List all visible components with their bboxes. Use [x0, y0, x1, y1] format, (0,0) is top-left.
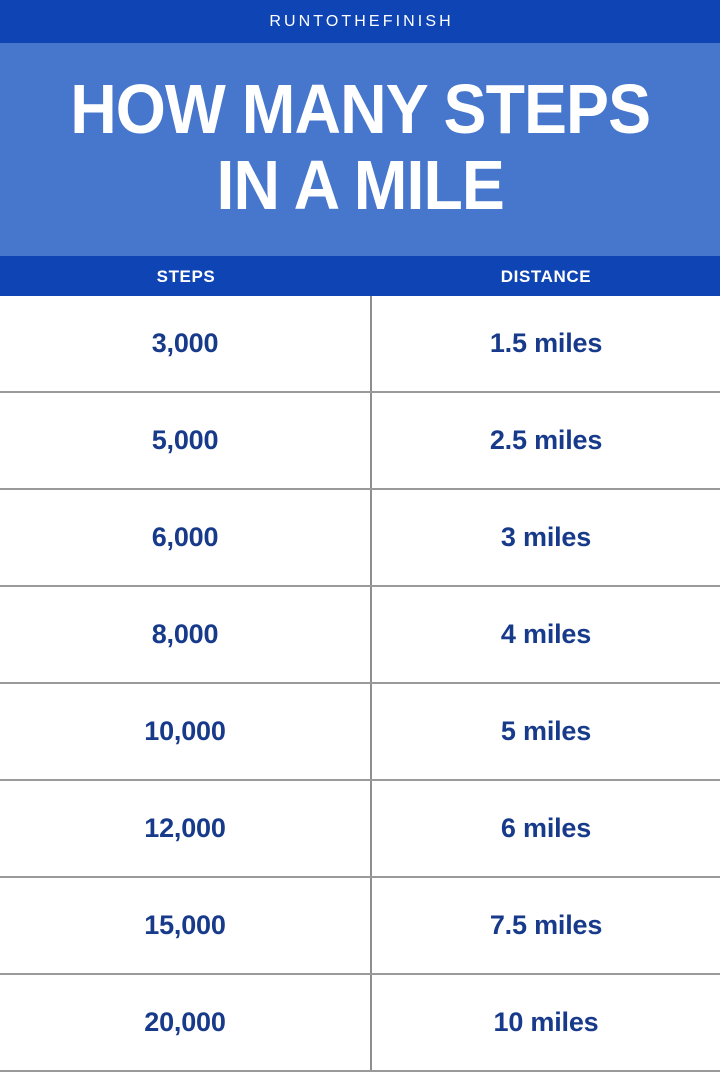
steps-distance-table: STEPS DISTANCE 3,000 1.5 miles 5,000 2.5… — [0, 256, 720, 1080]
cell-distance: 7.5 miles — [372, 878, 720, 973]
cell-distance: 10 miles — [372, 975, 720, 1070]
table-row: 5,000 2.5 miles — [0, 393, 720, 490]
brand-name: RUNTOTHEFINISH — [266, 14, 454, 30]
cell-distance: 1.5 miles — [372, 296, 720, 391]
table-row: 3,000 1.5 miles — [0, 296, 720, 393]
table-row: 6,000 3 miles — [0, 490, 720, 587]
table-row: 15,000 7.5 miles — [0, 878, 720, 975]
cell-steps: 8,000 — [0, 587, 372, 682]
table-footer-spacer — [0, 1072, 720, 1080]
column-header-distance: DISTANCE — [372, 256, 720, 296]
steps-per-mile-infographic: RUNTOTHEFINISH HOW MANY STEPS IN A MILE … — [0, 0, 720, 1080]
page-title-line-2: IN A MILE — [216, 152, 503, 219]
table-row: 12,000 6 miles — [0, 781, 720, 878]
cell-steps: 20,000 — [0, 975, 372, 1070]
table-row: 20,000 10 miles — [0, 975, 720, 1072]
page-title-line-1: HOW MANY STEPS — [70, 76, 650, 143]
cell-steps: 5,000 — [0, 393, 372, 488]
cell-distance: 6 miles — [372, 781, 720, 876]
cell-steps: 10,000 — [0, 684, 372, 779]
table-header-row: STEPS DISTANCE — [0, 256, 720, 296]
table-row: 8,000 4 miles — [0, 587, 720, 684]
table-body: 3,000 1.5 miles 5,000 2.5 miles 6,000 3 … — [0, 296, 720, 1072]
cell-distance: 5 miles — [372, 684, 720, 779]
cell-steps: 15,000 — [0, 878, 372, 973]
cell-steps: 6,000 — [0, 490, 372, 585]
cell-steps: 12,000 — [0, 781, 372, 876]
cell-distance: 3 miles — [372, 490, 720, 585]
cell-distance: 2.5 miles — [372, 393, 720, 488]
brand-bar: RUNTOTHEFINISH — [0, 0, 720, 43]
cell-steps: 3,000 — [0, 296, 372, 391]
table-row: 10,000 5 miles — [0, 684, 720, 781]
column-header-steps: STEPS — [0, 256, 372, 296]
title-band: HOW MANY STEPS IN A MILE — [0, 43, 720, 256]
cell-distance: 4 miles — [372, 587, 720, 682]
